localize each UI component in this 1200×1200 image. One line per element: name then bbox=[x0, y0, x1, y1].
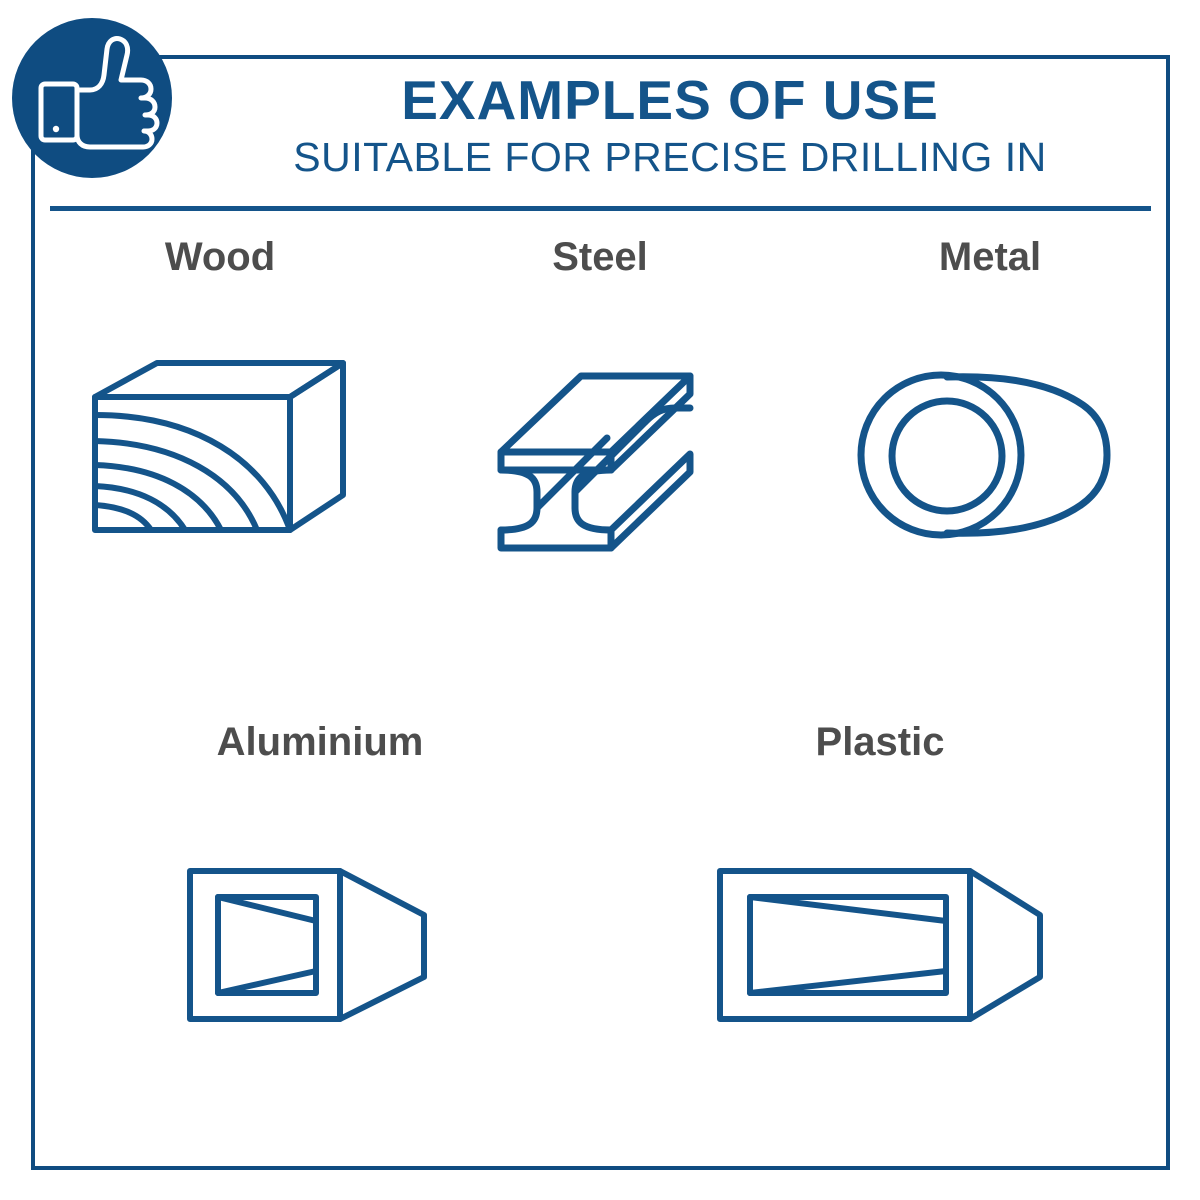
material-cell-wood: Wood bbox=[60, 235, 380, 595]
material-cell-metal: Metal bbox=[830, 235, 1150, 595]
material-art-plastic bbox=[670, 855, 1090, 1035]
material-label-metal: Metal bbox=[830, 235, 1150, 280]
thumbs-up-badge bbox=[12, 18, 172, 178]
round-pipe-icon bbox=[855, 355, 1125, 555]
material-cell-aluminium: Aluminium bbox=[110, 720, 530, 1080]
material-label-aluminium: Aluminium bbox=[110, 720, 530, 765]
material-label-steel: Steel bbox=[440, 235, 760, 280]
title-block: EXAMPLES OF USE SUITABLE FOR PRECISE DRI… bbox=[190, 72, 1150, 181]
material-cell-plastic: Plastic bbox=[670, 720, 1090, 1080]
rectangular-tube-icon bbox=[710, 855, 1050, 1035]
material-label-wood: Wood bbox=[60, 235, 380, 280]
material-art-aluminium bbox=[110, 855, 530, 1035]
thumbs-up-icon bbox=[12, 18, 172, 178]
square-tube-icon bbox=[180, 855, 460, 1035]
material-art-wood bbox=[60, 355, 380, 555]
page-subtitle: SUITABLE FOR PRECISE DRILLING IN bbox=[190, 134, 1150, 181]
poster-root: EXAMPLES OF USE SUITABLE FOR PRECISE DRI… bbox=[0, 0, 1200, 1200]
wood-block-icon bbox=[85, 355, 355, 555]
material-label-plastic: Plastic bbox=[670, 720, 1090, 765]
material-cell-steel: Steel bbox=[440, 235, 760, 595]
material-art-metal bbox=[830, 355, 1150, 555]
i-beam-icon bbox=[485, 360, 715, 560]
title-divider bbox=[50, 206, 1151, 211]
material-art-steel bbox=[440, 360, 760, 560]
page-title: EXAMPLES OF USE bbox=[190, 72, 1150, 130]
